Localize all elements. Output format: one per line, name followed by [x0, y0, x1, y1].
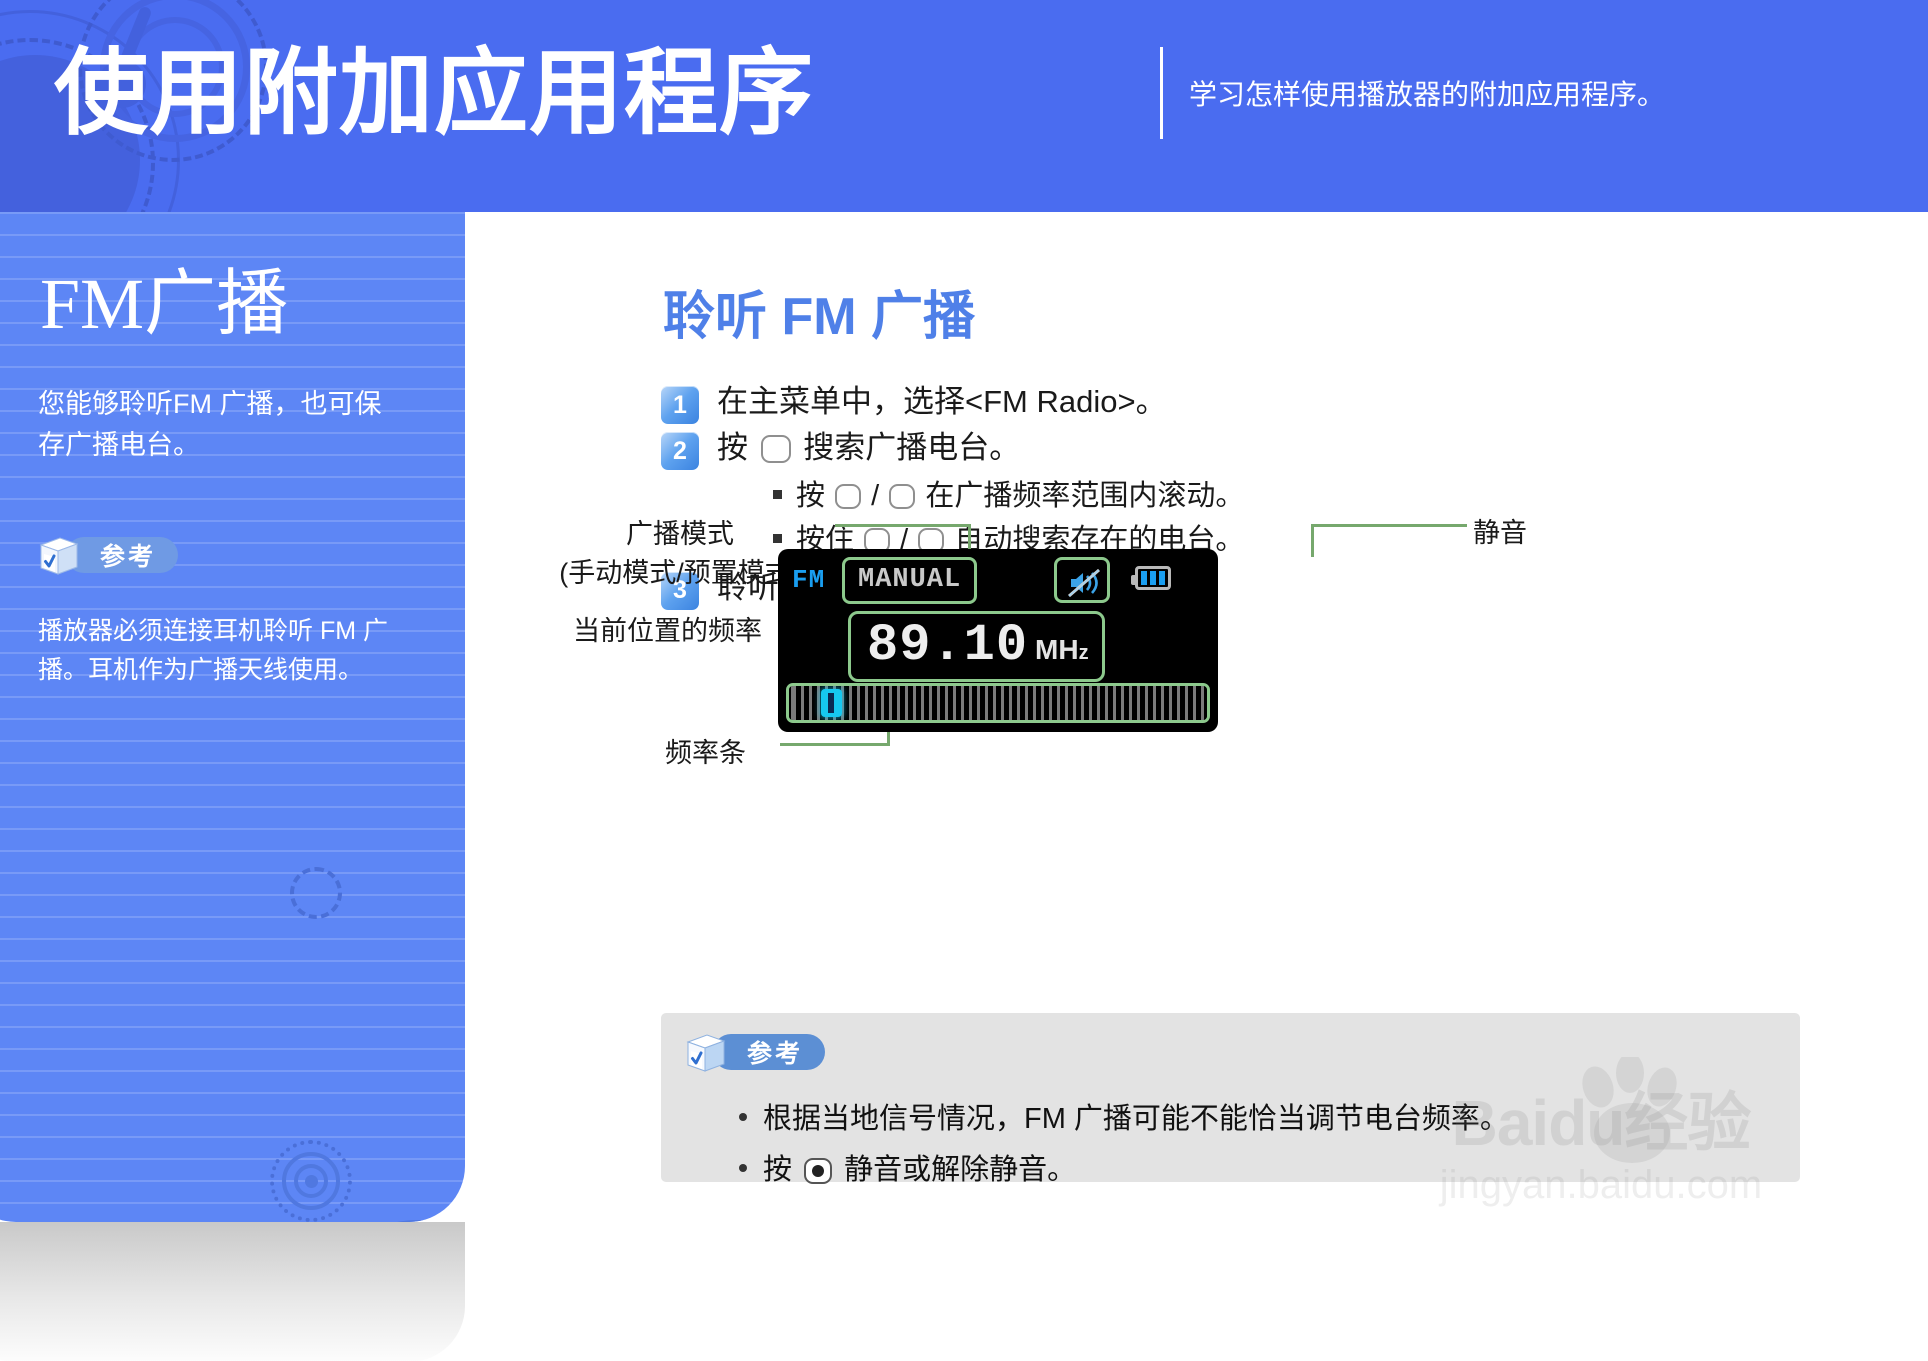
- sidebar-note-header: 参考: [36, 532, 178, 578]
- lcd-screen: FM MANUAL: [778, 549, 1218, 732]
- lcd-mode-text: MANUAL: [858, 565, 961, 595]
- note-check-box-icon: [683, 1029, 729, 1075]
- sidebar-decor-target-dashed: [270, 1140, 352, 1222]
- main-content-panel: 聆听 FM 广播 1 在主菜单中，选择<FM Radio>。 2 按 搜索广播电…: [465, 212, 1928, 1361]
- callout-broadcast-mode-line1: 广播模式: [525, 512, 835, 551]
- mute-speaker-icon: [1067, 568, 1101, 603]
- header-divider: [1160, 47, 1163, 139]
- page-title: 使用附加应用程序: [54, 44, 814, 143]
- header-subtitle-group: 学习怎样使用播放器的附加应用程序。: [1160, 46, 1665, 140]
- lcd-band-label: FM: [792, 565, 825, 595]
- note-box-list: 根据当地信号情况，FM 广播可能不能恰当调节电台频率。 按 静音或解除静音。: [739, 1095, 1509, 1197]
- battery-full-icon: [1135, 566, 1171, 590]
- lcd-frequency-ticks: [789, 686, 1207, 720]
- note-item-text-before: 按: [763, 1154, 792, 1186]
- leader-line-mute-v: [1311, 524, 1314, 557]
- callout-mute: 静音: [1473, 511, 1527, 550]
- note-item-text: 根据当地信号情况，FM 广播可能不能恰当调节电台频率。: [763, 1095, 1509, 1137]
- battery-segment: [1159, 571, 1165, 585]
- note-item-2: 按 静音或解除静音。: [739, 1146, 1509, 1188]
- note-box-label: 参考: [713, 1034, 825, 1070]
- sidebar-title: FM广播: [40, 268, 288, 340]
- sidebar-page-shadow: [0, 1222, 465, 1361]
- sidebar-decor-target-ring-1: [282, 1152, 340, 1210]
- sidebar-decor-target-core: [305, 1175, 318, 1188]
- battery-segment: [1150, 571, 1156, 585]
- note-check-box-icon: [36, 532, 82, 578]
- sidebar-note-text: 播放器必须连接耳机聆听 FM 广播。耳机作为广播天线使用。: [38, 612, 398, 690]
- lcd-unit-z: z: [1079, 642, 1089, 664]
- reference-note-box: 参考 根据当地信号情况，FM 广播可能不能恰当调节电台频率。 按 静音或解除静音…: [661, 1013, 1800, 1182]
- center-select-button-icon: [804, 1158, 832, 1184]
- lcd-frequency-unit: MHz: [1035, 634, 1089, 666]
- lcd-mode-indicator: MANUAL: [842, 557, 977, 604]
- sidebar-decor-dashed-small: [290, 867, 342, 919]
- page-root: 使用附加应用程序 学习怎样使用播放器的附加应用程序。 FM广播 您能够聆听FM …: [0, 0, 1928, 1361]
- lcd-mute-indicator: [1054, 557, 1110, 603]
- leader-line-bar-h: [780, 743, 890, 746]
- sidebar: FM广播 您能够聆听FM 广播，也可保存广播电台。 参考 播放器必须连接耳机聆听…: [0, 212, 465, 1222]
- note-item-text: 按 静音或解除静音。: [763, 1146, 1076, 1188]
- header-subtitle: 学习怎样使用播放器的附加应用程序。: [1189, 73, 1665, 113]
- note-box-header: 参考: [683, 1029, 825, 1075]
- leader-line-mute-h: [1311, 524, 1467, 527]
- sidebar-note-label: 参考: [66, 537, 178, 573]
- note-item-text-after: 静音或解除静音。: [844, 1154, 1076, 1186]
- lcd-unit-mh: MH: [1035, 634, 1079, 665]
- callout-frequency-bar: 频率条: [665, 731, 746, 770]
- sidebar-stripe-pattern: [0, 212, 465, 1222]
- bullet-dot-icon: [739, 1113, 747, 1121]
- page-header: 使用附加应用程序 学习怎样使用播放器的附加应用程序。: [0, 0, 1928, 212]
- device-screen-diagram: 广播模式 (手动模式/预置模式) 当前位置的频率 频率条 静音 FM MANUA…: [465, 212, 1928, 812]
- lcd-frequency-bar: [786, 683, 1210, 723]
- sidebar-decor-target-ring-2: [294, 1164, 328, 1198]
- leader-line-mode-h: [835, 524, 971, 527]
- lcd-frequency-readout: 89.10 MHz: [848, 611, 1105, 682]
- bullet-dot-icon: [739, 1164, 747, 1172]
- sidebar-description: 您能够聆听FM 广播，也可保存广播电台。: [38, 384, 398, 465]
- battery-segment: [1141, 571, 1147, 585]
- lcd-frequency-value: 89.10: [867, 616, 1028, 675]
- note-item-1: 根据当地信号情况，FM 广播可能不能恰当调节电台频率。: [739, 1095, 1509, 1137]
- lcd-frequency-cursor[interactable]: [821, 689, 842, 717]
- callout-current-frequency: 当前位置的频率: [573, 609, 762, 648]
